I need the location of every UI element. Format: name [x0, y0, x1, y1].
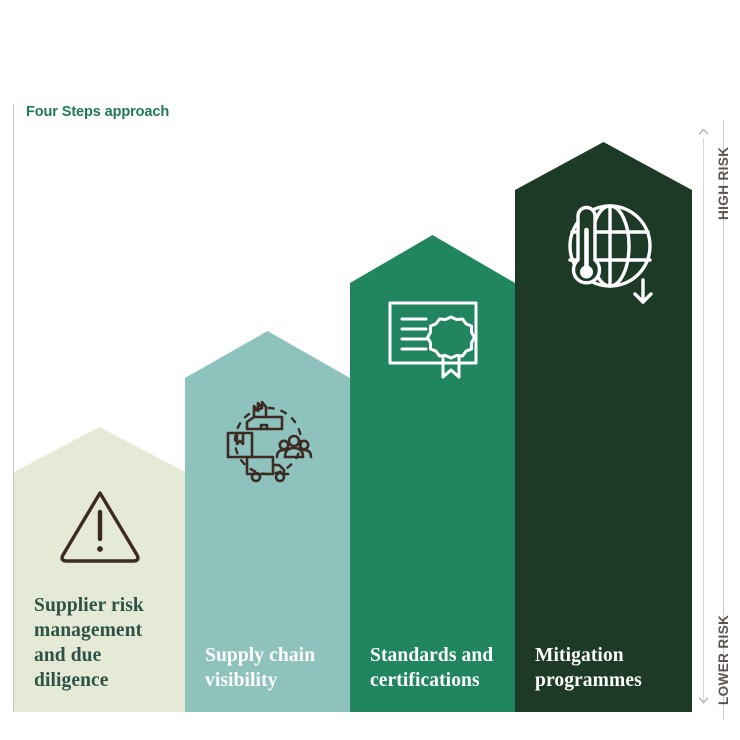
bar-label-supplier-risk: Supplier risk management and due diligen…: [34, 594, 175, 694]
axis-label-lower-risk: LOWER RISK: [716, 615, 731, 705]
arrow-up-icon: [698, 128, 709, 140]
risk-axis-line: [703, 138, 704, 704]
bar-standards-certifications[interactable]: Standards and certifications: [350, 235, 515, 712]
bar-mitigation-programmes[interactable]: Mitigation programmes: [515, 142, 692, 712]
infographic-page: Four Steps approach Supplier risk manage…: [0, 0, 740, 740]
bar-chart: Supplier risk management and due diligen…: [14, 120, 692, 712]
bar-label-standards-certifications: Standards and certifications: [370, 644, 505, 694]
risk-axis: HIGH RISK LOWER RISK: [694, 120, 740, 720]
bar-label-supply-chain-visibility: Supply chain visibility: [205, 644, 340, 694]
arrow-down-icon: [698, 692, 709, 704]
supply-chain-cycle-icon: [185, 389, 350, 493]
bar-supplier-risk[interactable]: Supplier risk management and due diligen…: [14, 427, 185, 712]
bar-supply-chain-visibility[interactable]: Supply chain visibility: [185, 331, 350, 712]
page-title: Four Steps approach: [26, 104, 169, 120]
warning-triangle-icon: [14, 485, 185, 565]
axis-label-high-risk: HIGH RISK: [716, 147, 731, 220]
certificate-icon: [350, 295, 515, 381]
globe-thermometer-icon: [515, 198, 692, 308]
bar-label-mitigation-programmes: Mitigation programmes: [535, 644, 682, 694]
